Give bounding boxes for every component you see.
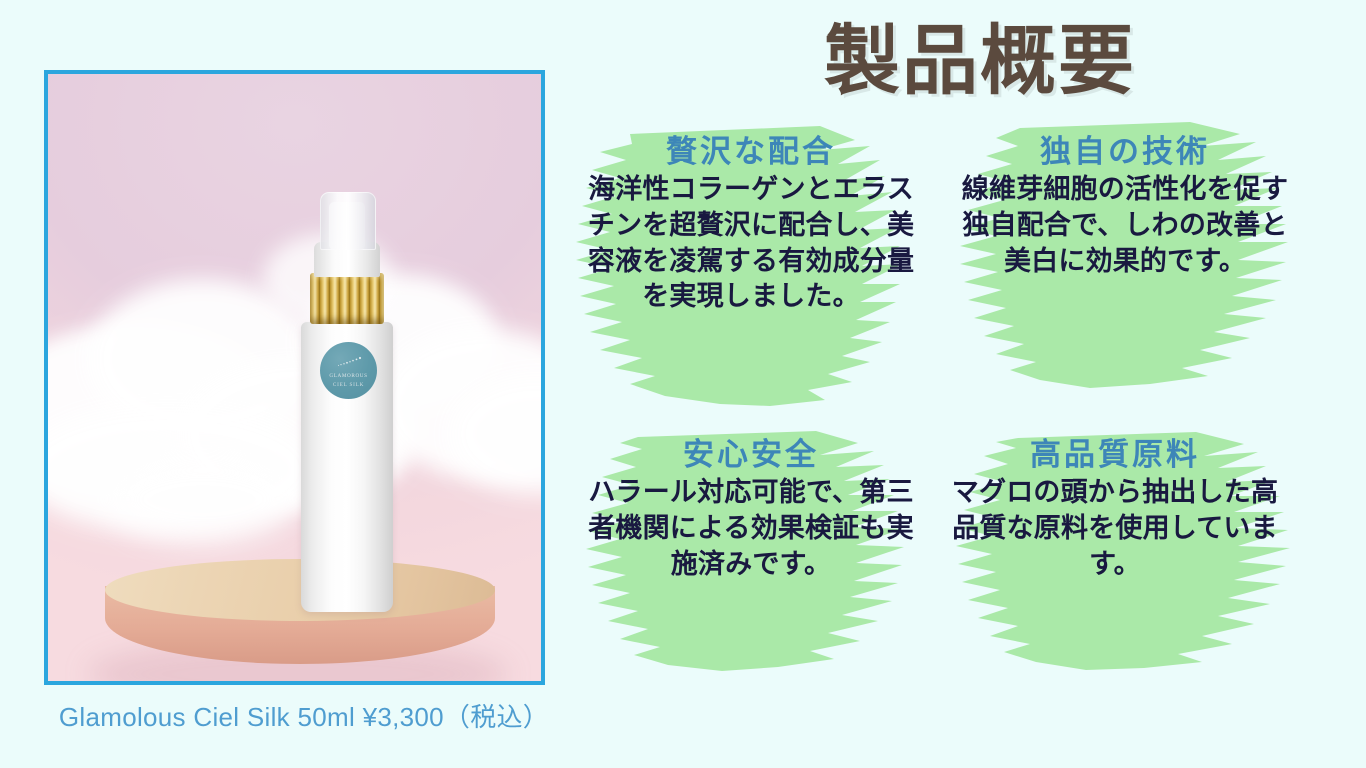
feature-block-2: 独自の技術 線維芽細胞の活性化を促す独自配合で、しわの改善と美白に効果的です。 [960,135,1290,279]
feature-heading-3: 安心安全 [586,438,916,473]
slide-canvas: GLAMOROUS CIEL SILK Glamolous Ciel Silk … [0,0,1366,768]
bottle-label-brand: GLAMOROUS [320,373,377,379]
feature-body-1: 海洋性コラーゲンとエラスチンを超贅沢に配合し、美容液を凌駕する有効成分量を実現し… [586,172,916,316]
page-title: 製品概要 [780,24,1180,100]
feature-body-4: マグロの頭から抽出した高品質な原料を使用しています。 [950,475,1280,583]
bottle-label-sub: CIEL SILK [320,382,377,388]
product-image-frame: GLAMOROUS CIEL SILK [44,70,545,685]
product-caption: Glamolous Ciel Silk 50ml ¥3,300（税込） [44,697,564,734]
bottle-gold-collar [310,273,384,324]
feature-body-3: ハラール対応可能で、第三者機関による効果検証も実施済みです。 [586,475,916,583]
feature-heading-2: 独自の技術 [960,135,1290,170]
sparkle-icon [334,356,364,368]
feature-block-4: 高品質原料 マグロの頭から抽出した高品質な原料を使用しています。 [950,438,1280,582]
cloud-shape [108,454,298,544]
bottle-label: GLAMOROUS CIEL SILK [320,342,377,399]
feature-block-1: 贅沢な配合 海洋性コラーゲンとエラスチンを超贅沢に配合し、美容液を凌駕する有効成… [586,135,916,315]
wooden-podium-top [105,559,495,621]
feature-heading-4: 高品質原料 [950,438,1280,473]
feature-block-3: 安心安全 ハラール対応可能で、第三者機関による効果検証も実施済みです。 [586,438,916,582]
feature-heading-1: 贅沢な配合 [586,135,916,170]
feature-body-2: 線維芽細胞の活性化を促す独自配合で、しわの改善と美白に効果的です。 [960,172,1290,280]
bottle-overcap-inner [329,202,365,250]
